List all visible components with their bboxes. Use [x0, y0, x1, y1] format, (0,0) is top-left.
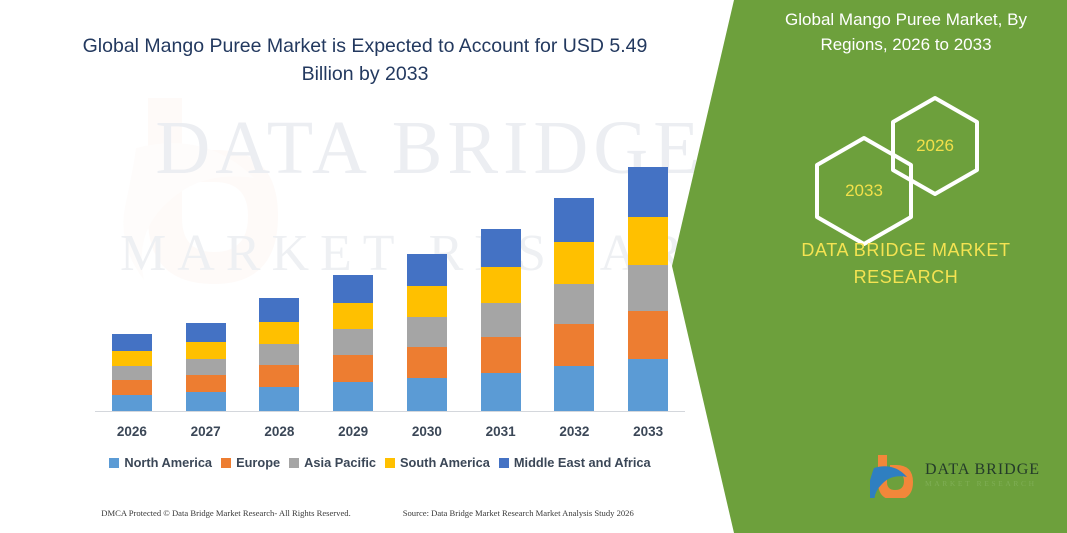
- bar-segment: [407, 286, 447, 317]
- bar-segment: [259, 322, 299, 344]
- bar-segment: [112, 380, 152, 395]
- legend-item-asia-pacific[interactable]: Asia Pacific: [289, 455, 376, 470]
- legend-swatch-icon: [499, 458, 509, 468]
- bar-segment: [481, 229, 521, 267]
- footer: DMCA Protected © Data Bridge Market Rese…: [0, 508, 735, 518]
- brand-logo: DATA BRIDGE MARKET RESEARCH: [870, 452, 1040, 498]
- bar-segment: [554, 242, 594, 284]
- legend-swatch-icon: [221, 458, 231, 468]
- brand-logo-text: DATA BRIDGE MARKET RESEARCH: [925, 462, 1040, 489]
- bar-segment: [628, 359, 668, 411]
- bar-group-2029[interactable]: [318, 275, 388, 411]
- x-axis-label-2032: 2032: [539, 424, 609, 439]
- bar-segment: [554, 366, 594, 411]
- brand-logo-subtitle: MARKET RESEARCH: [925, 480, 1040, 488]
- x-axis-labels: 20262027202820292030203120322033: [95, 424, 685, 444]
- bar-segment: [628, 167, 668, 217]
- hexagon-group: 2026 2033: [792, 92, 1062, 212]
- bar-segment: [186, 359, 226, 375]
- legend-swatch-icon: [385, 458, 395, 468]
- bar-segment: [186, 342, 226, 359]
- bar-segment: [112, 334, 152, 351]
- infographic-root: DATA BRIDGE MARKET RESEARCH Global Mango…: [0, 0, 1067, 533]
- x-axis-label-2027: 2027: [171, 424, 241, 439]
- bar-segment: [481, 337, 521, 373]
- x-axis-label-2031: 2031: [466, 424, 536, 439]
- bar-segment: [186, 323, 226, 342]
- plot-area: [95, 120, 685, 412]
- bar-segment: [481, 373, 521, 411]
- legend-item-europe[interactable]: Europe: [221, 455, 280, 470]
- bar-segment: [554, 198, 594, 242]
- legend-label: Middle East and Africa: [514, 455, 651, 470]
- bar-segment: [333, 275, 373, 303]
- bar-segment: [628, 265, 668, 311]
- bar-segment: [554, 324, 594, 366]
- footer-copyright: DMCA Protected © Data Bridge Market Rese…: [101, 508, 351, 518]
- bar-segment: [112, 351, 152, 366]
- brand-logo-title: DATA BRIDGE: [925, 462, 1040, 479]
- footer-source: Source: Data Bridge Market Research Mark…: [403, 508, 634, 518]
- bar-group-2033[interactable]: [613, 167, 683, 411]
- chart-legend: North AmericaEuropeAsia PacificSouth Ame…: [70, 455, 690, 470]
- bar-segment: [112, 366, 152, 380]
- legend-label: North America: [124, 455, 212, 470]
- x-axis-line: [95, 411, 685, 412]
- bar-segment: [112, 395, 152, 411]
- bar-segment: [259, 387, 299, 411]
- bar-segment: [333, 382, 373, 411]
- brand-panel-title: Global Mango Puree Market, By Regions, 2…: [756, 8, 1056, 57]
- bar-segment: [407, 317, 447, 347]
- chart-title: Global Mango Puree Market is Expected to…: [70, 33, 660, 88]
- bar-segment: [481, 267, 521, 303]
- bar-segment: [554, 284, 594, 324]
- bar-group-2028[interactable]: [244, 298, 314, 411]
- x-axis-label-2033: 2033: [613, 424, 683, 439]
- hexagon-2033: 2033: [812, 134, 916, 248]
- legend-swatch-icon: [109, 458, 119, 468]
- x-axis-label-2026: 2026: [97, 424, 167, 439]
- bar-segment: [628, 311, 668, 359]
- bar-segment: [333, 355, 373, 382]
- legend-swatch-icon: [289, 458, 299, 468]
- x-axis-label-2028: 2028: [244, 424, 314, 439]
- bar-segment: [333, 303, 373, 329]
- bar-segment: [407, 347, 447, 378]
- hexagon-2033-label: 2033: [845, 181, 883, 201]
- bar-segment: [259, 365, 299, 387]
- bar-segment: [628, 217, 668, 265]
- bar-group-2027[interactable]: [171, 323, 241, 411]
- legend-item-north-america[interactable]: North America: [109, 455, 212, 470]
- brand-name: DATA BRIDGE MARKET RESEARCH: [756, 237, 1056, 291]
- bar-segment: [259, 298, 299, 322]
- bar-segment: [186, 375, 226, 392]
- legend-item-middle-east-and-africa[interactable]: Middle East and Africa: [499, 455, 651, 470]
- bar-segment: [333, 329, 373, 355]
- bar-segment: [407, 254, 447, 286]
- bar-group-2030[interactable]: [392, 254, 462, 411]
- db-b-logo-icon: [870, 452, 916, 498]
- bar-segment: [407, 378, 447, 411]
- bar-segment: [186, 392, 226, 411]
- bar-group-2031[interactable]: [466, 229, 536, 411]
- brand-panel: Global Mango Puree Market, By Regions, 2…: [672, 0, 1067, 533]
- hexagon-2026-label: 2026: [916, 136, 954, 156]
- x-axis-label-2029: 2029: [318, 424, 388, 439]
- legend-label: Asia Pacific: [304, 455, 376, 470]
- legend-label: Europe: [236, 455, 280, 470]
- x-axis-label-2030: 2030: [392, 424, 462, 439]
- legend-item-south-america[interactable]: South America: [385, 455, 490, 470]
- chart-panel: DATA BRIDGE MARKET RESEARCH Global Mango…: [0, 0, 735, 533]
- bar-segment: [259, 344, 299, 365]
- legend-label: South America: [400, 455, 490, 470]
- bar-group-2032[interactable]: [539, 198, 609, 411]
- bar-segment: [481, 303, 521, 337]
- bar-group-2026[interactable]: [97, 334, 167, 411]
